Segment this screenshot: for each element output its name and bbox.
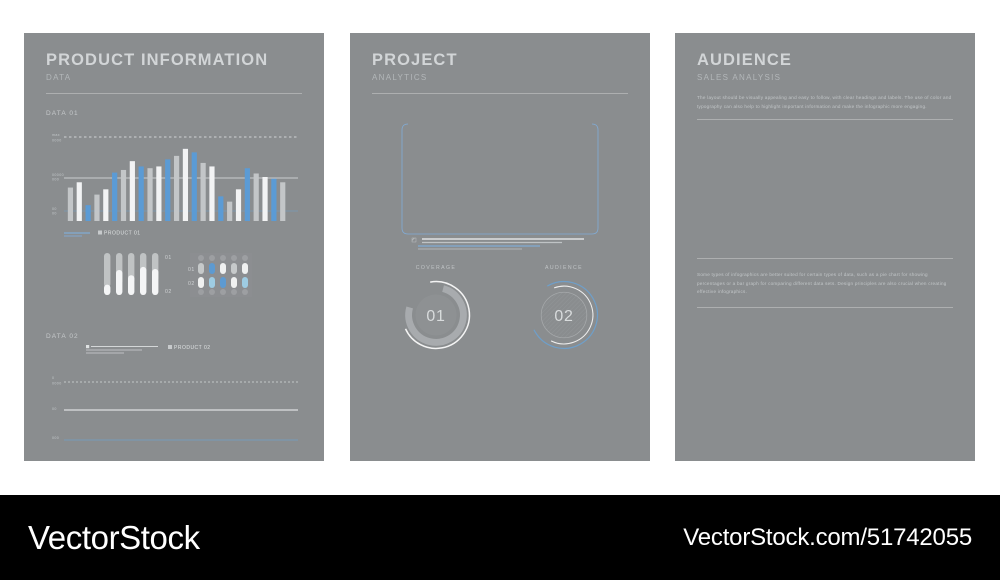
svg-text:00: 00	[52, 207, 57, 211]
svg-text:02: 02	[165, 289, 172, 295]
svg-text:00: 00	[52, 407, 57, 411]
panel-2-subtitle: ANALYTICS	[372, 73, 628, 82]
stock-url: VectorStock.com/51742055	[683, 524, 972, 552]
panel-3-paragraph-1: The layout should be visually appealing …	[697, 94, 953, 111]
chart-data-large	[697, 322, 953, 434]
svg-text:00: 00	[52, 212, 57, 216]
brand-name: VectorStock	[28, 519, 200, 557]
svg-text:000: 000	[52, 436, 59, 440]
chart-product-01-bars: max 0000 00000 000 00 00	[46, 123, 302, 233]
panel-3-divider-2	[697, 258, 953, 259]
chart-product-02-floating: 0 0000 00 000	[46, 360, 302, 460]
gauge-coverage-value: 01	[426, 308, 445, 325]
legend-product-02: PRODUCT 02	[46, 344, 302, 358]
gauges-row: COVERAGE 01 AUDIENCE	[372, 265, 628, 353]
gauge-audience-caption: AUDIENCE	[545, 265, 583, 271]
svg-text:01: 01	[188, 267, 195, 273]
chart-project-combo	[372, 116, 628, 256]
gauge-audience-value: 02	[554, 308, 573, 325]
panel-project-analytics: PROJECT ANALYTICS	[350, 33, 650, 461]
legend-product-01: PRODUCT 01	[46, 229, 302, 239]
panel-3-subtitle: SALES ANALYSIS	[697, 73, 953, 82]
panel-audience-sales: AUDIENCE SALES ANALYSIS The layout shoul…	[675, 33, 975, 461]
panel-3-divider-3	[697, 307, 953, 308]
gauge-audience: AUDIENCE 02	[500, 265, 628, 353]
panel-2-divider	[372, 93, 628, 94]
panel-1-section-label-2: DATA 02	[46, 333, 302, 340]
chart-capsule-groups: 0102 0102	[46, 247, 302, 317]
chart-growth-income-large	[697, 132, 953, 244]
watermark-footer: VectorStock VectorStock.com/51742055	[0, 495, 1000, 580]
mini-charts-row	[372, 371, 628, 443]
panel-1-divider	[46, 93, 302, 94]
svg-text:0000: 0000	[52, 382, 62, 386]
chart-data-mini	[507, 371, 628, 443]
svg-text:000: 000	[52, 178, 59, 182]
chart-growth-income-mini	[372, 371, 493, 443]
panel-3-divider-1	[697, 119, 953, 120]
svg-text:0000: 0000	[52, 139, 62, 143]
legend-label-product-02: PRODUCT 02	[174, 345, 211, 351]
svg-text:max: max	[52, 133, 60, 137]
gauge-coverage: COVERAGE 01	[372, 265, 500, 353]
panel-1-subtitle: DATA	[46, 73, 302, 82]
svg-text:01: 01	[165, 255, 172, 261]
svg-text:00000: 00000	[52, 173, 64, 177]
svg-text:02: 02	[188, 281, 195, 287]
legend-label-product-01: PRODUCT 01	[104, 231, 141, 237]
panel-3-paragraph-2: Some types of infographics are better su…	[697, 271, 953, 296]
panel-product-information: PRODUCT INFORMATION DATA DATA 01 max 000…	[24, 33, 324, 461]
panel-1-section-label-1: DATA 01	[46, 110, 302, 117]
gauge-coverage-caption: COVERAGE	[416, 265, 457, 271]
infographic-stage: PRODUCT INFORMATION DATA DATA 01 max 000…	[0, 0, 1000, 495]
panel-3-title: AUDIENCE	[697, 51, 953, 69]
panel-1-title: PRODUCT INFORMATION	[46, 51, 302, 69]
panel-2-title: PROJECT	[372, 51, 628, 69]
svg-text:0: 0	[52, 376, 54, 380]
